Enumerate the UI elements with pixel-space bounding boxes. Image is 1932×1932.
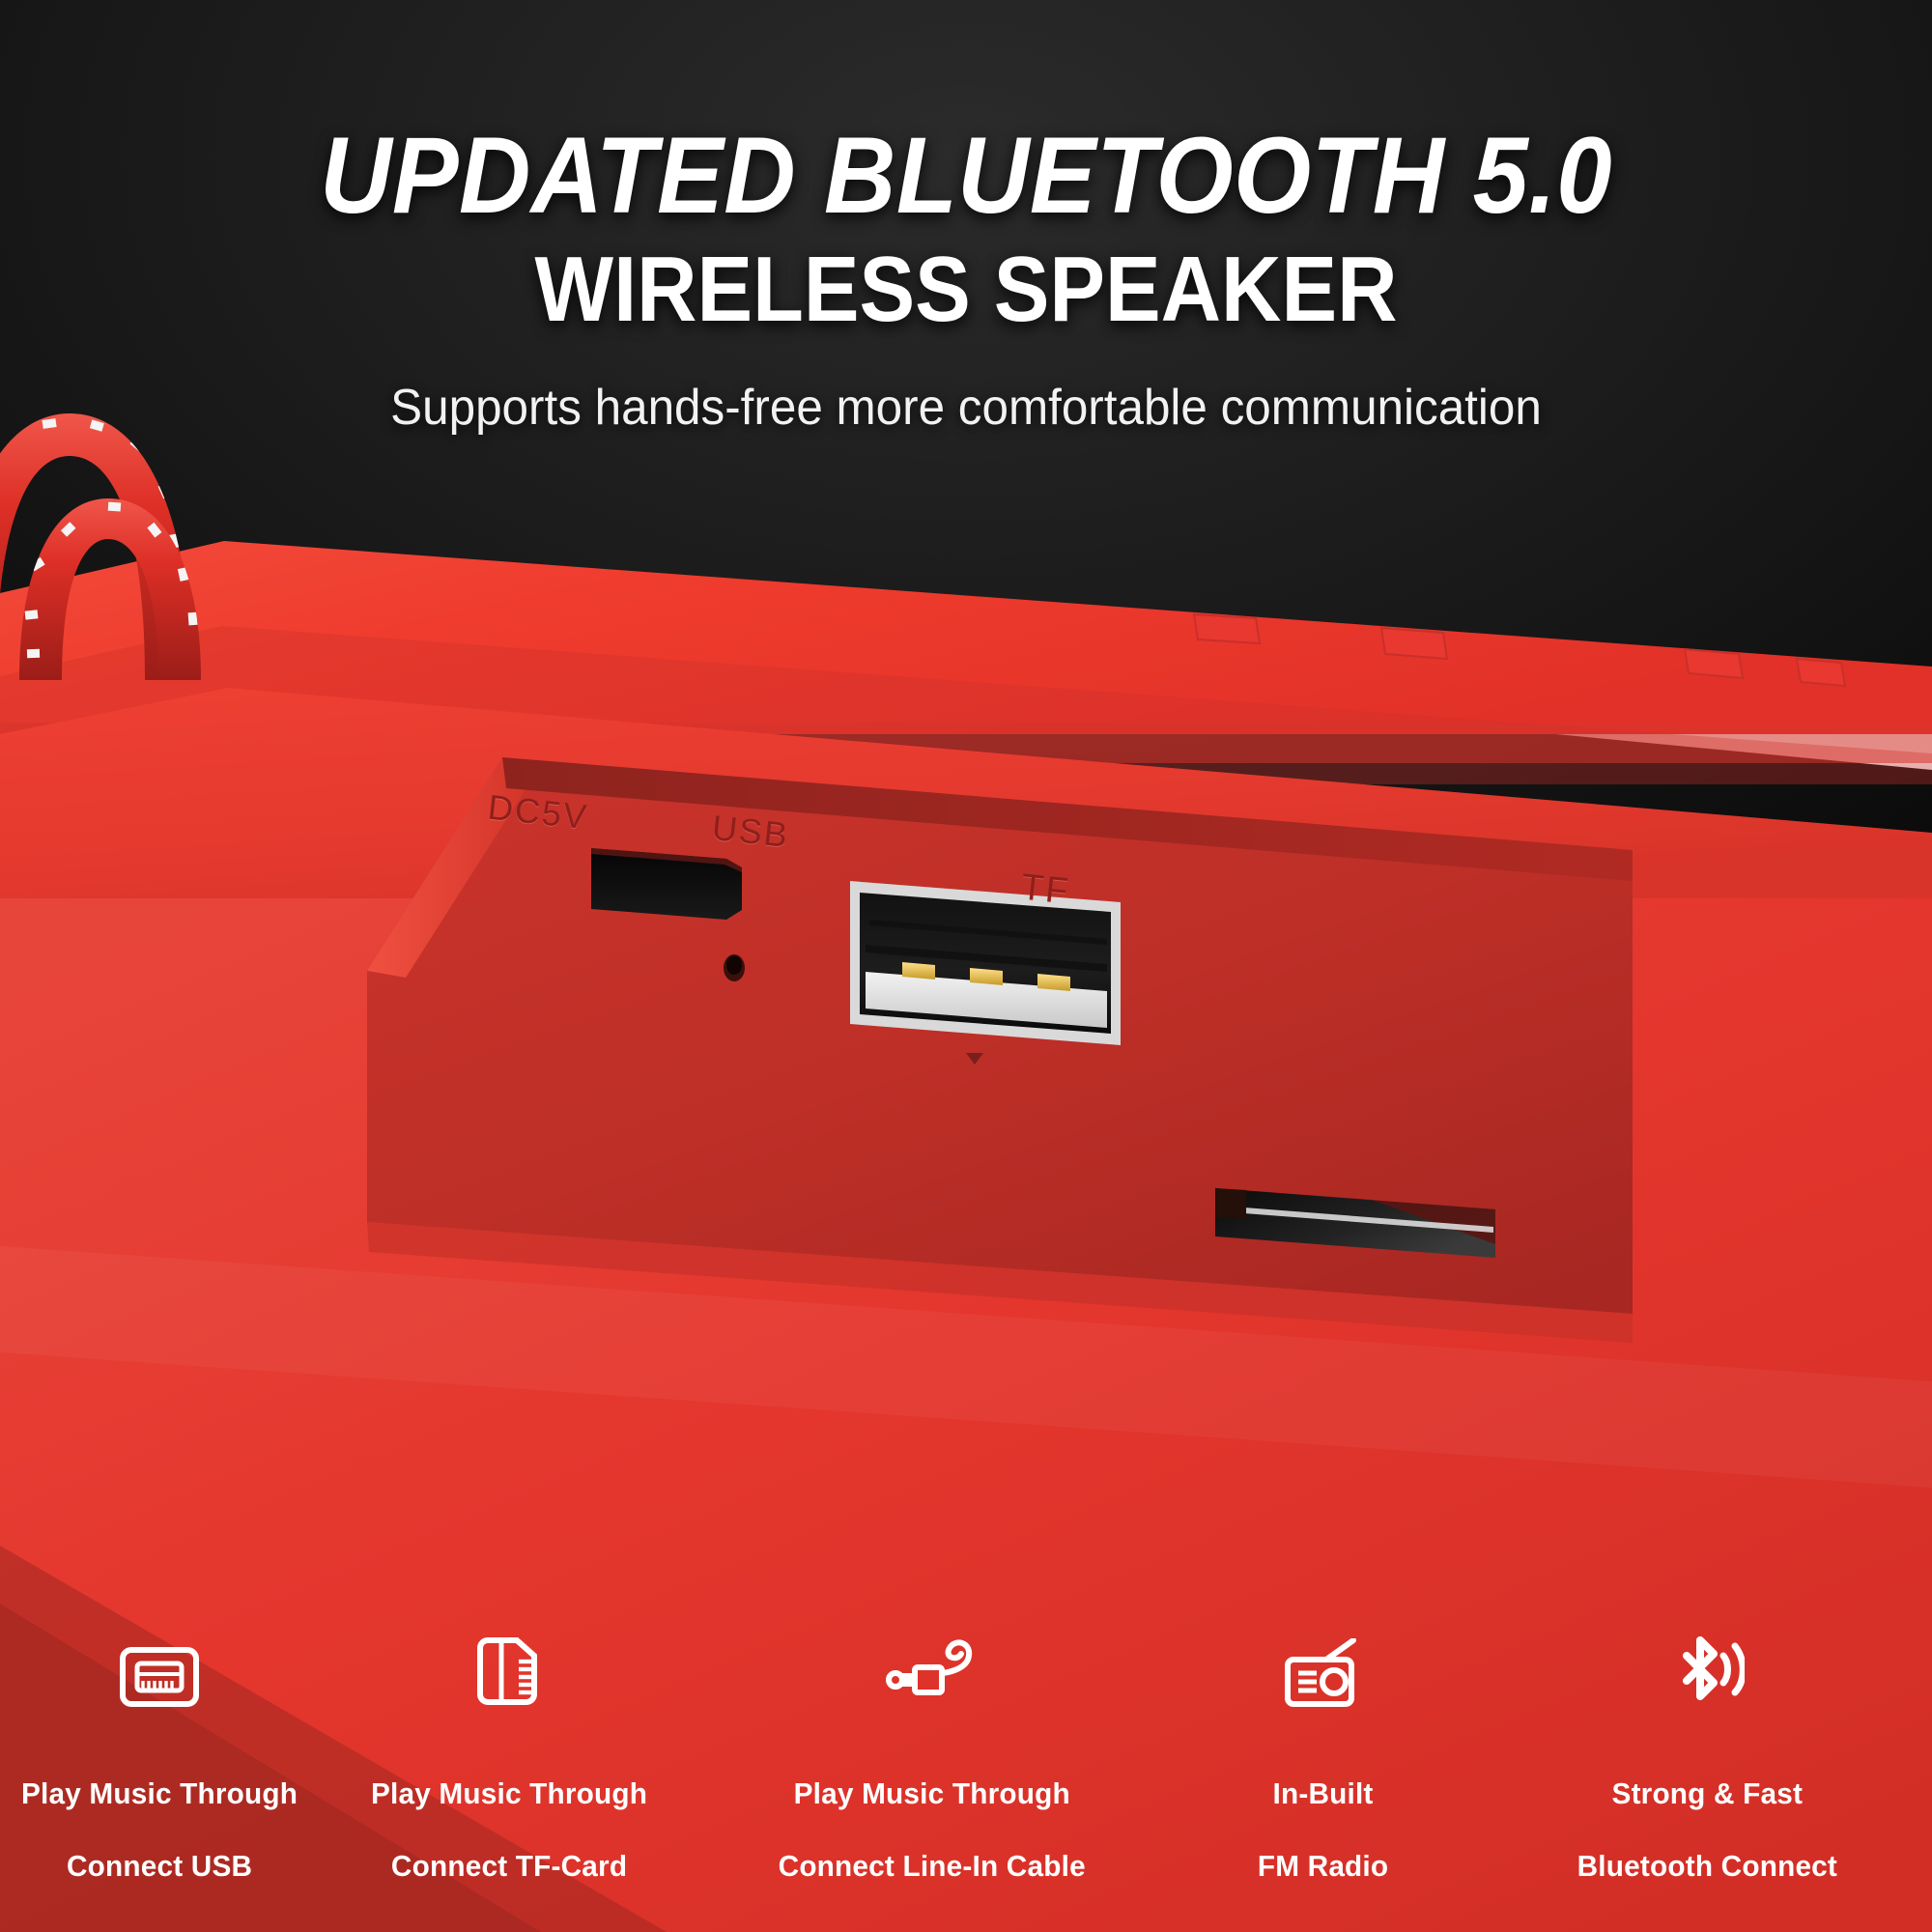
feature-tf-line2: Connect TF-Card xyxy=(391,1849,627,1883)
feature-usb-line1: Play Music Through xyxy=(21,1776,298,1810)
feature-label-tf-card: Play Music Through Connect TF-Card xyxy=(371,1739,647,1885)
feature-fm-line1: In-Built xyxy=(1273,1776,1374,1810)
braided-rope-handle xyxy=(0,390,348,680)
rope-inner-strand xyxy=(19,498,201,680)
feature-item-usb: Play Music Through Connect USB xyxy=(0,1613,319,1885)
feature-item-tf-card: Play Music Through Connect TF-Card xyxy=(319,1613,700,1885)
dc5v-micro-usb-port xyxy=(591,848,742,920)
product-marketing-banner: UPDATED BLUETOOTH 5.0 WIRELESS SPEAKER S… xyxy=(0,0,1932,1932)
fm-radio-icon xyxy=(1282,1634,1365,1710)
usb-port-icon xyxy=(119,1634,200,1710)
feature-tf-line1: Play Music Through xyxy=(371,1776,647,1810)
feature-label-bluetooth: Strong & Fast Bluetooth Connect xyxy=(1577,1739,1837,1885)
feature-bt-line2: Bluetooth Connect xyxy=(1577,1849,1837,1883)
feature-label-usb: Play Music Through Connect USB xyxy=(21,1739,298,1885)
feature-bt-line1: Strong & Fast xyxy=(1612,1776,1804,1810)
feature-linein-line2: Connect Line-In Cable xyxy=(779,1849,1086,1883)
memory-card-icon xyxy=(474,1634,546,1710)
feature-label-fm-radio: In-Built FM Radio xyxy=(1258,1739,1388,1885)
feature-item-fm-radio: In-Built FM Radio xyxy=(1164,1613,1483,1885)
feature-usb-line2: Connect USB xyxy=(67,1849,252,1883)
feature-linein-line1: Play Music Through xyxy=(794,1776,1070,1810)
aux-cable-jack-icon xyxy=(884,1634,980,1710)
feature-list: Play Music Through Connect USB xyxy=(0,1613,1932,1932)
reset-pinhole xyxy=(724,954,745,981)
feature-fm-line2: FM Radio xyxy=(1258,1849,1388,1883)
feature-item-line-in: Play Music Through Connect Line-In Cable xyxy=(700,1613,1164,1885)
feature-label-line-in: Play Music Through Connect Line-In Cable xyxy=(779,1739,1086,1885)
feature-item-bluetooth: Strong & Fast Bluetooth Connect xyxy=(1483,1613,1932,1885)
bluetooth-icon xyxy=(1671,1634,1745,1710)
